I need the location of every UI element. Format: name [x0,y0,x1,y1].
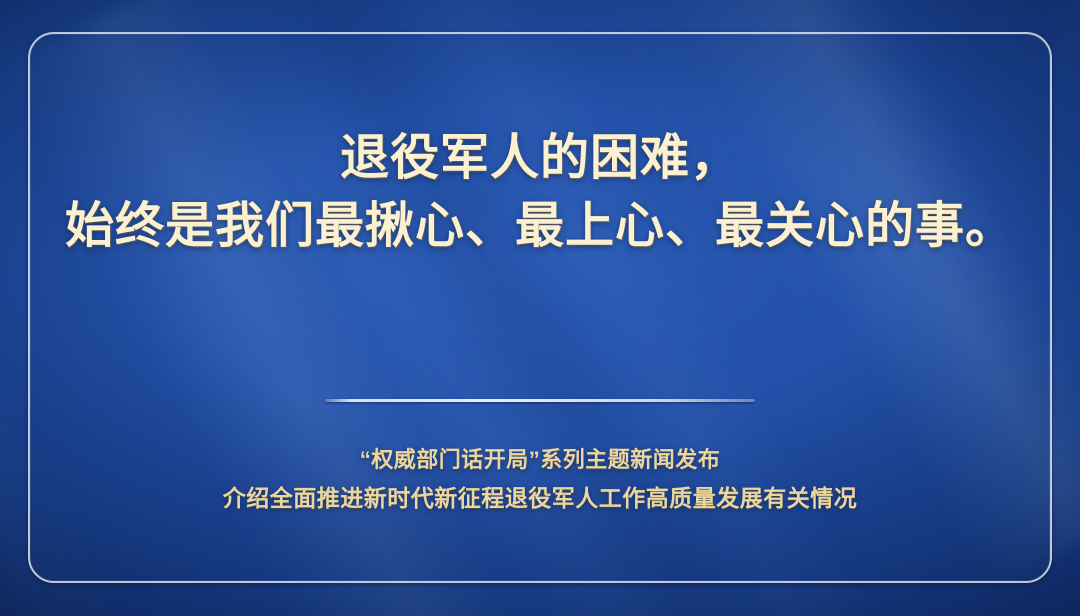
background-vignette [0,0,1080,616]
headline-line-2: 始终是我们最揪心、最上心、最关心的事。 [0,192,1080,260]
caption-block: “权威部门话开局”系列主题新闻发布 介绍全面推进新时代新征程退役军人工作高质量发… [0,441,1080,517]
caption-line-2: 介绍全面推进新时代新征程退役军人工作高质量发展有关情况 [0,479,1080,517]
headline-quote: 退役军人的困难， 始终是我们最揪心、最上心、最关心的事。 [0,124,1080,260]
slide-canvas: 退役军人的困难， 始终是我们最揪心、最上心、最关心的事。 “权威部门话开局”系列… [0,0,1080,616]
caption-line-1: “权威部门话开局”系列主题新闻发布 [0,441,1080,479]
headline-line-1: 退役军人的困难， [0,124,1080,192]
divider-rule [325,399,755,402]
